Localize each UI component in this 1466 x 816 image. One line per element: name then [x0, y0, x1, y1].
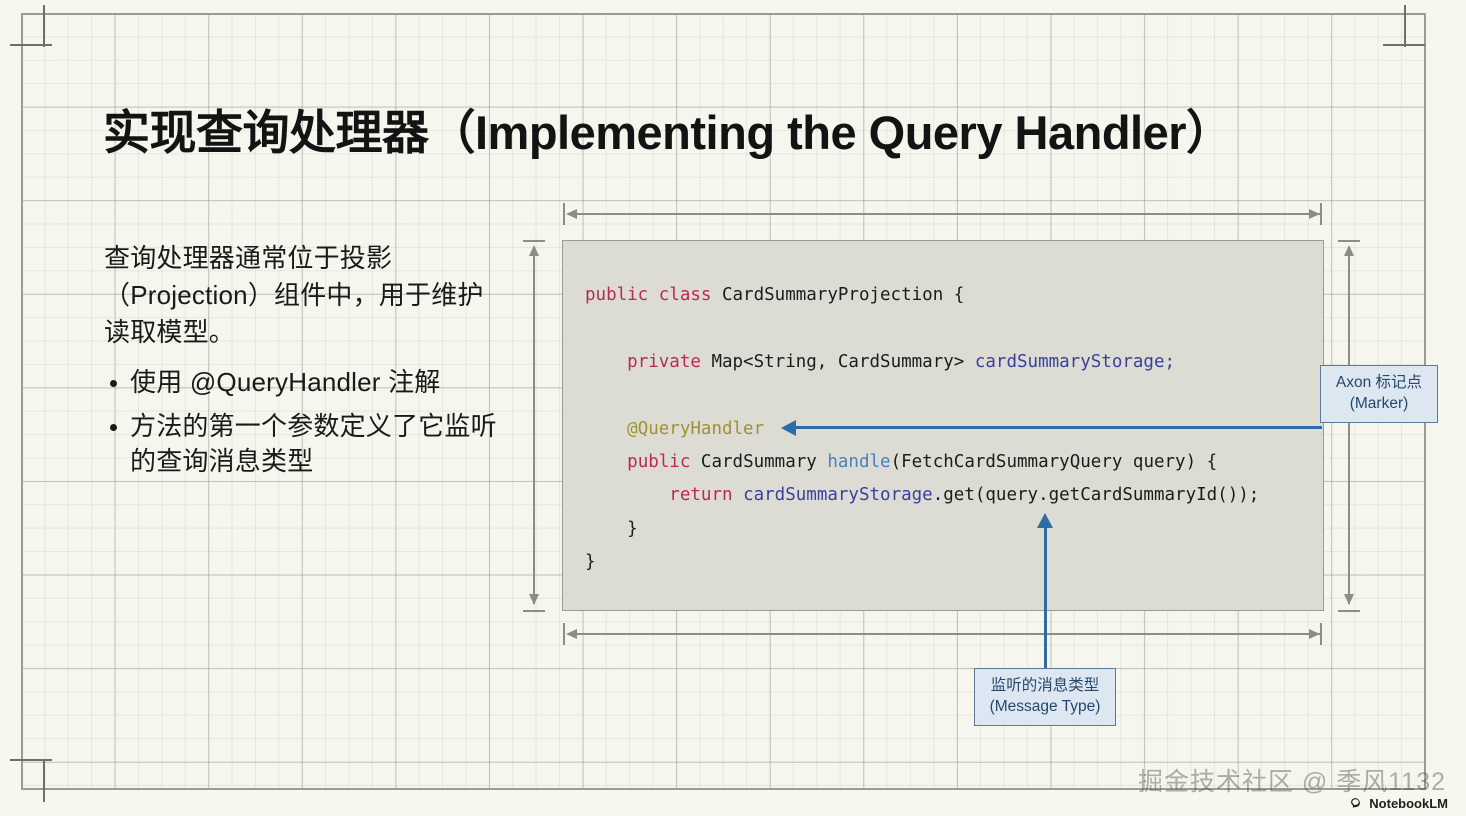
margin-mask-left	[0, 0, 22, 816]
message-type-pointer-line	[1044, 527, 1047, 668]
callout-axon-marker: Axon 标记点 (Marker)	[1320, 365, 1438, 423]
dimension-tick-bottom-right	[1320, 623, 1322, 645]
marker-pointer-arrowhead	[781, 420, 796, 436]
code-line: }	[585, 552, 596, 572]
code-line: return cardSummaryStorage.get(query.getC…	[585, 485, 1259, 505]
code-line: private Map<String, CardSummary> cardSum…	[585, 352, 1175, 372]
code-token-pln: .get(query.getCardSummaryId());	[933, 485, 1260, 505]
slide-canvas: 实现查询处理器（Implementing the Query Handler） …	[0, 0, 1466, 816]
dimension-line-bottom	[568, 633, 1320, 635]
registration-mark-top-left-h	[10, 44, 52, 46]
notebooklm-logo-icon	[1348, 796, 1363, 811]
code-line: @QueryHandler	[585, 419, 764, 439]
list-item-label: 使用 @QueryHandler 注解	[130, 367, 441, 397]
dimension-tick-left-top	[523, 240, 545, 242]
bullet-dot-icon	[110, 380, 117, 387]
dimension-arrow-right-up	[1344, 245, 1354, 256]
dimension-arrow-bottom-right	[1309, 629, 1320, 639]
dimension-line-top	[568, 213, 1320, 215]
code-token-pln: }	[627, 519, 638, 539]
dimension-tick-right-bottom	[1338, 610, 1360, 612]
page-title: 实现查询处理器（Implementing the Query Handler）	[103, 94, 1393, 163]
notebooklm-badge: NotebookLM	[1348, 796, 1448, 811]
code-line: public CardSummary handle(FetchCardSumma…	[585, 452, 1217, 472]
dimension-tick-left-bottom	[523, 610, 545, 612]
list-item: 使用 @QueryHandler 注解	[104, 365, 504, 401]
code-token-kw: return	[669, 485, 743, 505]
code-token-var: cardSummaryStorage	[743, 485, 933, 505]
list-item-label: 方法的第一个参数定义了它监听的查询消息类型	[130, 411, 497, 477]
code-token-pln: }	[585, 552, 596, 572]
dimension-line-right	[1348, 247, 1350, 604]
code-token-pln: Map<String, CardSummary>	[711, 352, 974, 372]
code-token-pln: CardSummaryProjection {	[722, 285, 964, 305]
callout-message-type-line1: 监听的消息类型	[983, 676, 1107, 697]
code-token-ann: @QueryHandler	[627, 419, 764, 439]
callout-axon-marker-line2: (Marker)	[1329, 394, 1429, 415]
dimension-tick-bottom-left	[563, 623, 565, 645]
dimension-arrow-right-down	[1344, 594, 1354, 605]
dimension-arrow-top-right	[1309, 209, 1320, 219]
code-line: }	[585, 519, 638, 539]
registration-mark-top-left-v	[43, 5, 45, 47]
intro-paragraph: 查询处理器通常位于投影（Projection）组件中，用于维护读取模型。	[104, 240, 504, 351]
code-token-var: cardSummaryStorage;	[975, 352, 1175, 372]
dimension-arrow-left-down	[529, 594, 539, 605]
message-type-pointer-arrowhead	[1037, 513, 1053, 528]
dimension-tick-top-right	[1320, 203, 1322, 225]
registration-mark-top-right-v	[1404, 5, 1406, 47]
code-token-fn: handle	[827, 452, 890, 472]
dimension-arrow-left-up	[529, 245, 539, 256]
registration-mark-bottom-left-h	[10, 759, 52, 761]
code-token-kw: class	[659, 285, 722, 305]
bullet-list: 使用 @QueryHandler 注解 方法的第一个参数定义了它监听的查询消息类…	[104, 365, 504, 481]
margin-mask-top	[0, 0, 1466, 14]
watermark-text: 掘金技术社区 @ 季风1132	[1138, 762, 1446, 798]
callout-message-type-line2: (Message Type)	[983, 697, 1107, 718]
registration-mark-bottom-left-v	[43, 760, 45, 802]
code-line: public class CardSummaryProjection {	[585, 285, 964, 305]
dimension-line-left	[533, 247, 535, 604]
code-token-kw: private	[627, 352, 711, 372]
code-token-kw: public	[585, 285, 659, 305]
notebooklm-label: NotebookLM	[1369, 796, 1448, 811]
marker-pointer-line	[795, 426, 1322, 429]
code-token-pln: (FetchCardSummaryQuery query) {	[891, 452, 1218, 472]
code-token-kw: public	[627, 452, 701, 472]
list-item: 方法的第一个参数定义了它监听的查询消息类型	[104, 409, 504, 481]
left-text-column: 查询处理器通常位于投影（Projection）组件中，用于维护读取模型。 使用 …	[104, 240, 504, 488]
dimension-arrow-bottom-left	[566, 629, 577, 639]
dimension-tick-top-left	[563, 203, 565, 225]
callout-message-type: 监听的消息类型 (Message Type)	[974, 668, 1116, 726]
code-token-pln: CardSummary	[701, 452, 827, 472]
callout-axon-marker-line1: Axon 标记点	[1329, 373, 1429, 394]
bullet-dot-icon	[110, 424, 117, 431]
dimension-arrow-top-left	[566, 209, 577, 219]
dimension-tick-right-top	[1338, 240, 1360, 242]
registration-mark-top-right-h	[1383, 44, 1425, 46]
